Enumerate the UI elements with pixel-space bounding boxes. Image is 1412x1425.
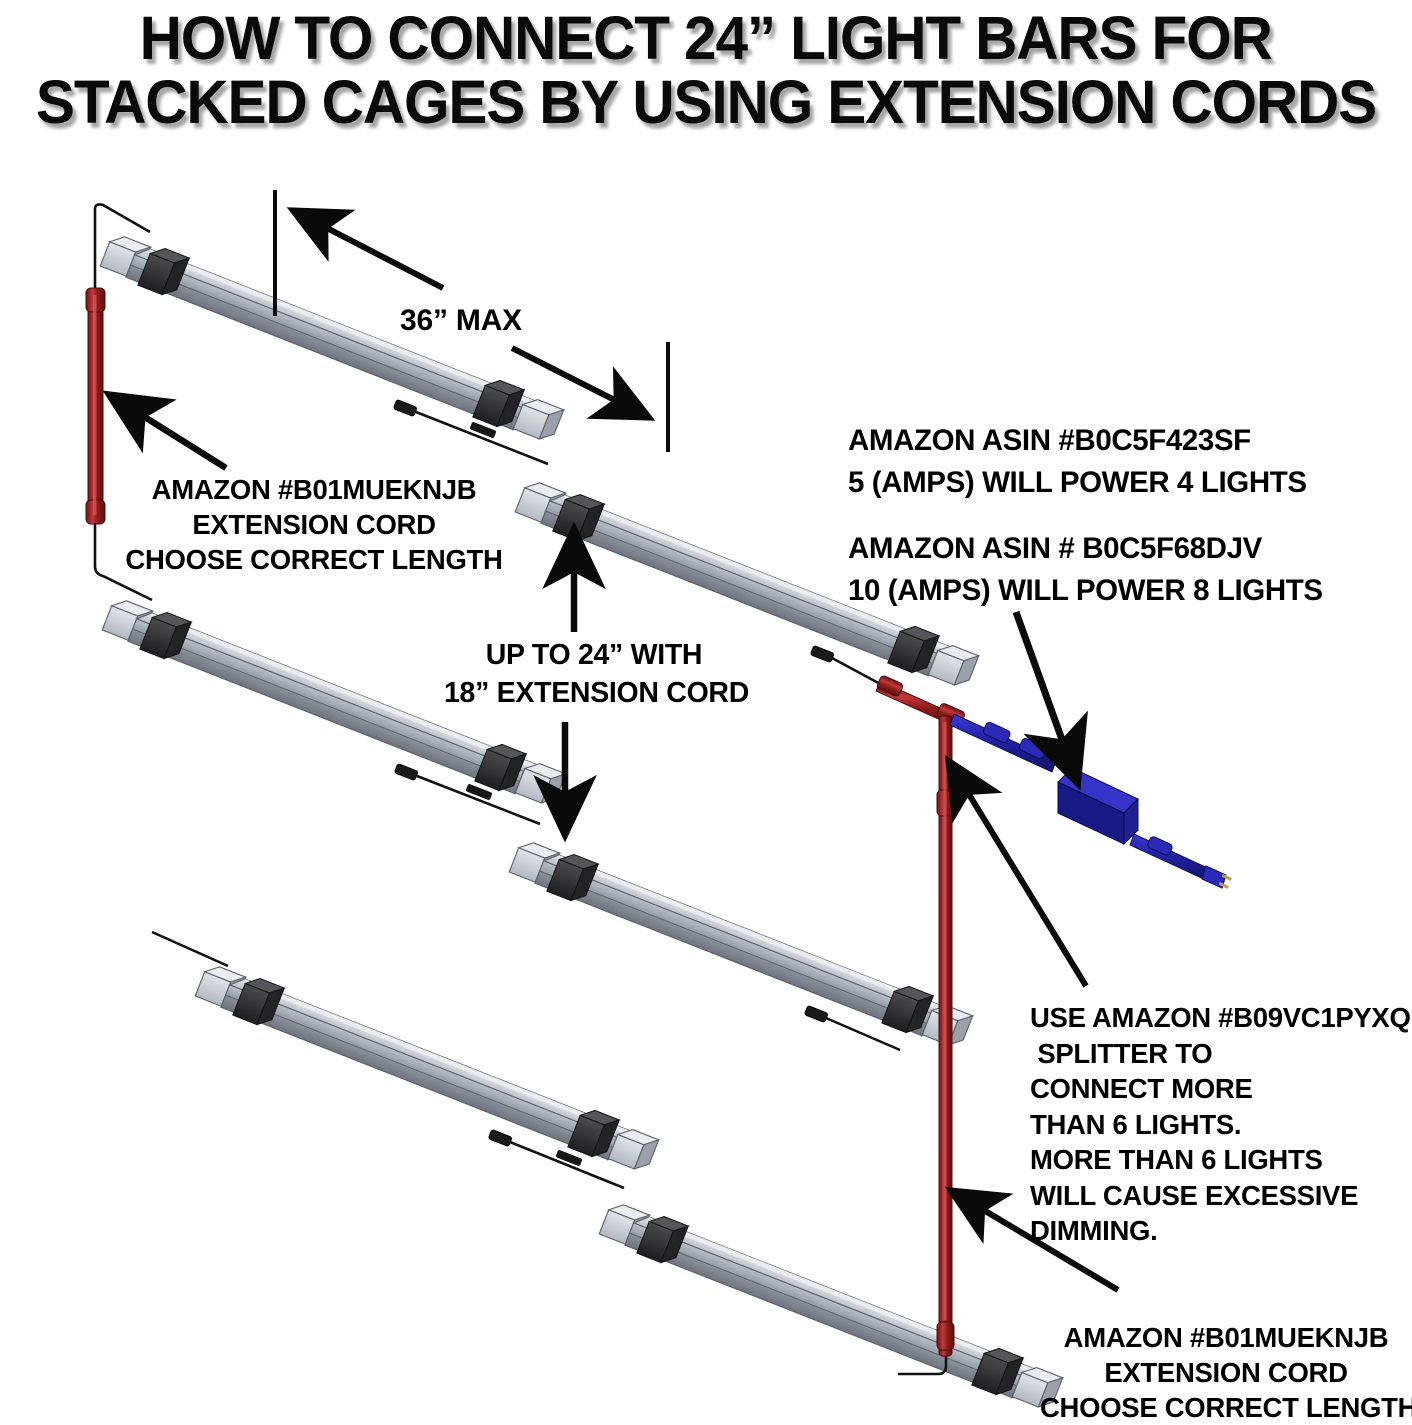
connector-cable [804,1005,900,1050]
cord-splitter [876,675,966,1356]
label-extension-cord-left: AMAZON #B01MUEKNJB EXTENSION CORD CHOOSE… [84,472,544,577]
callout-arrow-splitter [948,760,1086,986]
label-36-inch-max: 36” MAX [400,303,522,339]
title-line-2: STACKED CAGES BY USING EXTENSION CORDS [36,70,1376,134]
24-inch-light-bar [194,959,660,1177]
callout-arrow-extension-cord-left [108,394,226,468]
power-supply-adapter [950,714,1232,889]
label-asin-10-amp: AMAZON ASIN # B0C5F68DJV 10 (AMPS) WILL … [848,528,1323,612]
connector-cable [898,1348,946,1374]
connector-cable [810,645,884,686]
diagram-page: HOW TO CONNECT 24” LIGHT BARS FOR STACKE… [0,0,1412,1414]
label-splitter-instructions: USE AMAZON #B09VC1PYXQ SPLITTER TO CONNE… [1030,1000,1411,1249]
page-title: HOW TO CONNECT 24” LIGHT BARS FOR STACKE… [0,0,1412,140]
connector-cable [393,399,548,464]
callout-arrow-power-supply [1016,612,1078,784]
connector-cable [488,1129,624,1188]
connector-cable [152,932,228,966]
connector-cable [394,763,540,824]
connector-cable [95,204,150,290]
label-extension-cord-bottom: AMAZON #B01MUEKNJB EXTENSION CORD CHOOSE… [1040,1320,1412,1425]
24-inch-light-bar [598,1197,1064,1414]
label-asin-5-amp: AMAZON ASIN #B0C5F423SF 5 (AMPS) WILL PO… [848,420,1307,504]
24-inch-light-bar [508,835,974,1053]
title-line-1: HOW TO CONNECT 24” LIGHT BARS FOR [140,6,1272,70]
label-up-to-24-with-18-extension: UP TO 24” WITH 18” EXTENSION CORD [444,636,744,712]
